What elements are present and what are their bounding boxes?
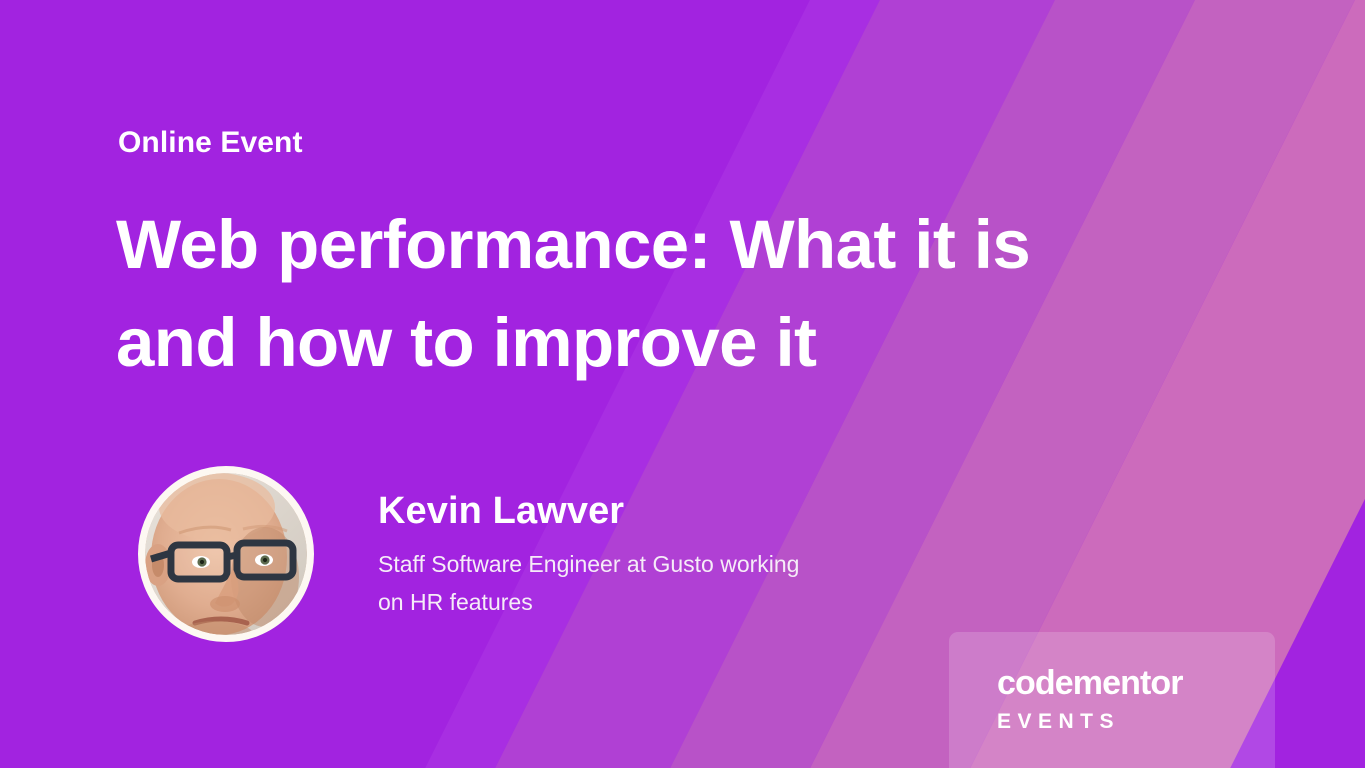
speaker-bio: Staff Software Engineer at Gusto working… bbox=[378, 545, 799, 622]
speaker-block: Kevin Lawver Staff Software Engineer at … bbox=[138, 466, 799, 642]
title-line-1: Web performance: What it is bbox=[116, 196, 1156, 294]
logo-lockup: codementor EVENTS bbox=[997, 666, 1183, 732]
codementor-wordmark: codementor bbox=[997, 666, 1183, 700]
page-title: Web performance: What it is and how to i… bbox=[116, 196, 1156, 392]
speaker-bio-line-2: on HR features bbox=[378, 589, 533, 615]
events-subtitle: EVENTS bbox=[997, 711, 1183, 732]
avatar bbox=[138, 466, 314, 642]
event-promo-banner: Online Event Web performance: What it is… bbox=[0, 0, 1365, 768]
title-line-2: and how to improve it bbox=[116, 294, 1156, 392]
banner-content: Online Event Web performance: What it is… bbox=[0, 0, 1365, 768]
speaker-bio-line-1: Staff Software Engineer at Gusto working bbox=[378, 551, 799, 577]
speaker-details: Kevin Lawver Staff Software Engineer at … bbox=[378, 466, 799, 621]
event-type-label: Online Event bbox=[118, 126, 303, 161]
codementor-events-logo-card: codementor EVENTS bbox=[949, 632, 1275, 768]
speaker-name: Kevin Lawver bbox=[378, 489, 799, 535]
avatar-photo bbox=[145, 473, 307, 635]
